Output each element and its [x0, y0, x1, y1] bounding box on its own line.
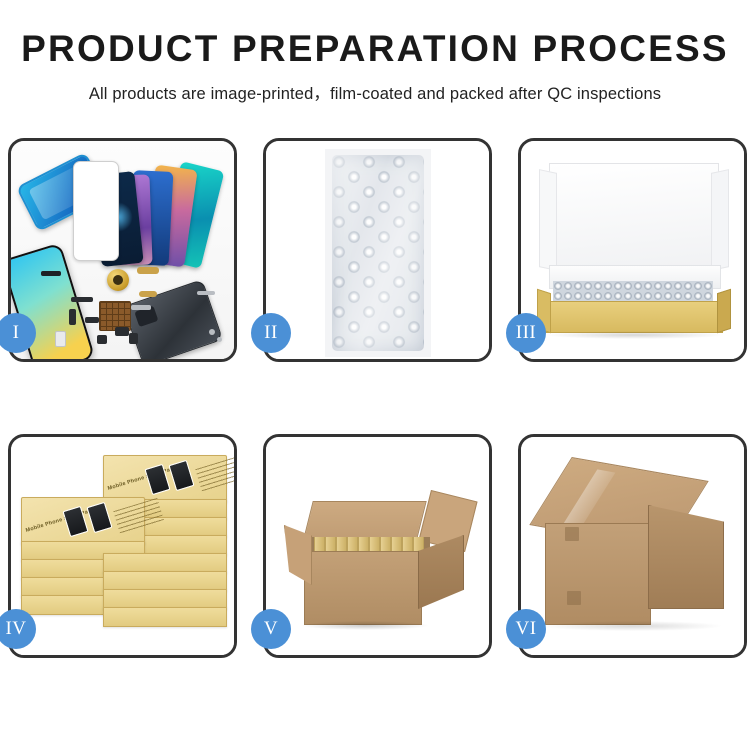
page-subtitle: All products are image-printed，film-coat…: [0, 80, 750, 104]
header: PRODUCT PREPARATION PROCESS All products…: [0, 0, 750, 104]
retail-box-back-6: [103, 571, 227, 591]
inner-box-lid: [549, 163, 719, 275]
bubble-wrap-sheen: [332, 155, 424, 351]
part-speaker: [41, 271, 61, 276]
step-badge-3: III: [506, 313, 546, 353]
carton-shadow: [302, 621, 428, 630]
box-screen-image-2: [168, 460, 194, 491]
step-panel-3: III: [518, 138, 747, 362]
page-title: PRODUCT PREPARATION PROCESS: [0, 30, 750, 69]
step-badge-5: V: [251, 609, 291, 649]
inner-box-right-side: [717, 289, 731, 334]
step-panel-1: I: [8, 138, 237, 362]
retail-box-back-8: [103, 607, 227, 627]
inner-box-shadow: [547, 331, 723, 339]
step-4-image: Mobile Phone Spare Parts Mobile Phone Sp…: [11, 437, 234, 655]
part-flex-cable-1: [137, 267, 159, 274]
inner-box-lid-right-flap: [711, 169, 729, 271]
step-6-image: [521, 437, 744, 655]
retail-box-back-7: [103, 589, 227, 609]
carton-side-face: [648, 505, 724, 609]
part-connector-3: [85, 317, 99, 323]
tempered-glass-protector: [73, 161, 119, 261]
carton-shadow: [543, 621, 721, 631]
step-badge-2: II: [251, 313, 291, 353]
carton-front-face: [545, 523, 651, 625]
carton-front-face: [304, 551, 422, 625]
part-battery: [55, 331, 66, 347]
step-5-image: [266, 437, 489, 655]
inner-box-front: [545, 301, 723, 333]
step-badge-6: VI: [506, 609, 546, 649]
wireless-charging-coil: [107, 269, 129, 291]
part-chip-1: [115, 327, 129, 336]
retail-box-stack: Mobile Phone Spare Parts Mobile Phone Sp…: [17, 453, 229, 643]
part-connector-1: [71, 297, 93, 302]
step-3-image: [521, 141, 744, 359]
step-panel-5: V: [263, 434, 492, 658]
carton-handle-tab-upper: [565, 527, 579, 541]
part-flex-cable-2: [139, 291, 157, 297]
part-tool-tweezers: [197, 291, 215, 295]
product-preparation-infographic: PRODUCT PREPARATION PROCESS All products…: [0, 0, 750, 750]
box-spec-text-back: [195, 456, 234, 494]
retail-box-back-5: [103, 553, 227, 573]
process-steps-grid: I II III: [8, 138, 742, 658]
part-connector-2: [69, 309, 76, 325]
part-screw-2: [217, 337, 222, 342]
carton-handle-tab-lower: [567, 591, 581, 605]
box-screen-image-4: [86, 502, 112, 533]
inner-box-lid-left-flap: [539, 169, 557, 271]
part-chip-2: [97, 335, 107, 344]
step-panel-6: VI: [518, 434, 747, 658]
step-1-image: [11, 141, 234, 359]
open-shipping-carton: [288, 477, 466, 627]
step-panel-2: II: [263, 138, 492, 362]
step-2-image: [266, 141, 489, 359]
retail-box-back-top: Mobile Phone Spare Parts: [103, 455, 227, 503]
part-screw-1: [209, 329, 215, 335]
sealed-shipping-carton: [539, 465, 729, 635]
retail-box-front-top: Mobile Phone Spare Parts: [21, 497, 145, 545]
step-panel-4: Mobile Phone Spare Parts Mobile Phone Sp…: [8, 434, 237, 658]
part-camera-module: [129, 333, 138, 344]
part-bracket: [131, 305, 151, 310]
